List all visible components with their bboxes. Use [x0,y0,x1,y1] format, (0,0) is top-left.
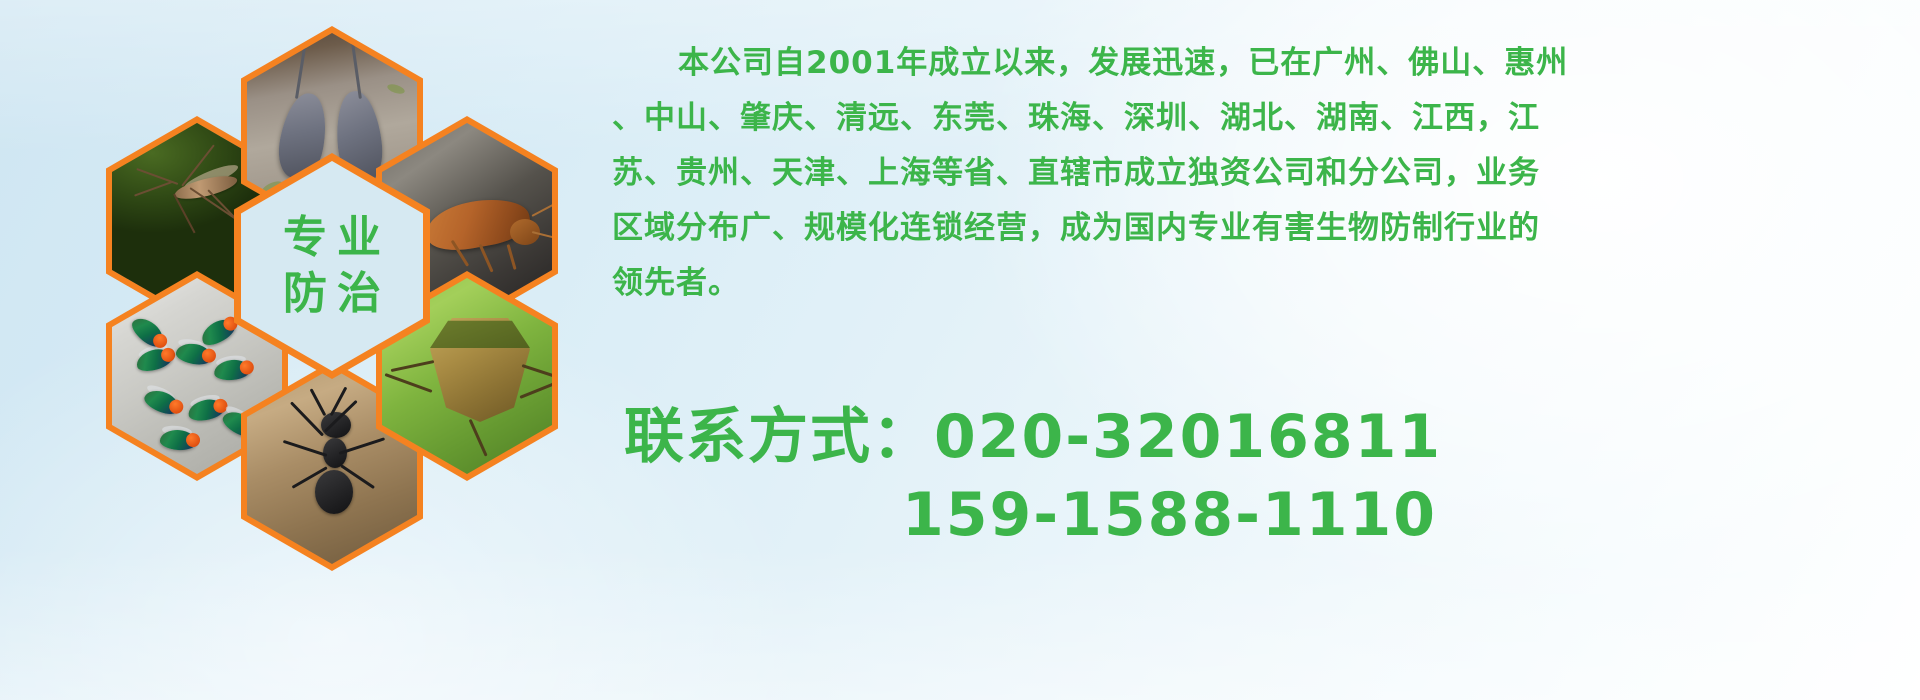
intro-line-2: 、中山、肇庆、清远、东莞、珠海、深圳、湖北、湖南、江西，江 [612,91,1902,146]
ant-antenna [310,388,327,416]
hex-center-badge-label: 专业 防治 [241,161,423,371]
stink-bug-leg [385,373,433,393]
hex-badge-line-2: 防治 [273,266,391,322]
ant-abdomen [315,470,353,514]
fly [134,345,174,374]
intro-line-1: 本公司自2001年成立以来，发展迅速，已在广州、佛山、惠州 [612,36,1902,91]
cockroach-leg [507,244,517,270]
contact-phone-mobile[interactable]: 159-1588-1110 [612,476,1902,554]
rodent-tail [295,47,306,99]
ant-head [321,412,351,438]
pest-control-banner: 专业 防治 本公司自2001年成立以来，发展迅速，已在广州、佛山、惠州 、中山、… [0,0,1920,700]
company-intro-paragraph: 本公司自2001年成立以来，发展迅速，已在广州、佛山、惠州 、中山、肇庆、清远、… [612,36,1902,311]
fly [128,313,168,351]
hexagon-photo-cluster: 专业 防治 [78,8,588,568]
stink-bug-leg [522,364,552,380]
intro-line-3: 苏、贵州、天津、上海等省、直辖市成立独资公司和分公司，业务 [612,146,1902,201]
contact-phone-landline[interactable]: 联系方式：020-32016811 [612,398,1902,476]
fly [159,429,196,451]
intro-line-4: 区域分布广、规模化连锁经营，成为国内专业有害生物防制行业的 [612,201,1902,256]
stink-bug-leg [391,360,435,372]
hex-center-badge-inner: 专业 防治 [241,161,423,371]
mosquito-leg [134,181,172,197]
cockroach-leg [479,244,494,273]
contact-block: 联系方式：020-32016811 159-1588-1110 [612,398,1902,554]
stink-bug-leg [469,419,488,457]
cockroach-antenna [532,194,552,216]
stink-bug-leg [519,380,552,399]
intro-line-5: 领先者。 [612,256,1902,311]
mosquito-proboscis [173,194,195,234]
hex-badge-line-1: 专业 [273,210,391,266]
leaf-debris [386,82,406,95]
ant-leg [283,440,328,457]
